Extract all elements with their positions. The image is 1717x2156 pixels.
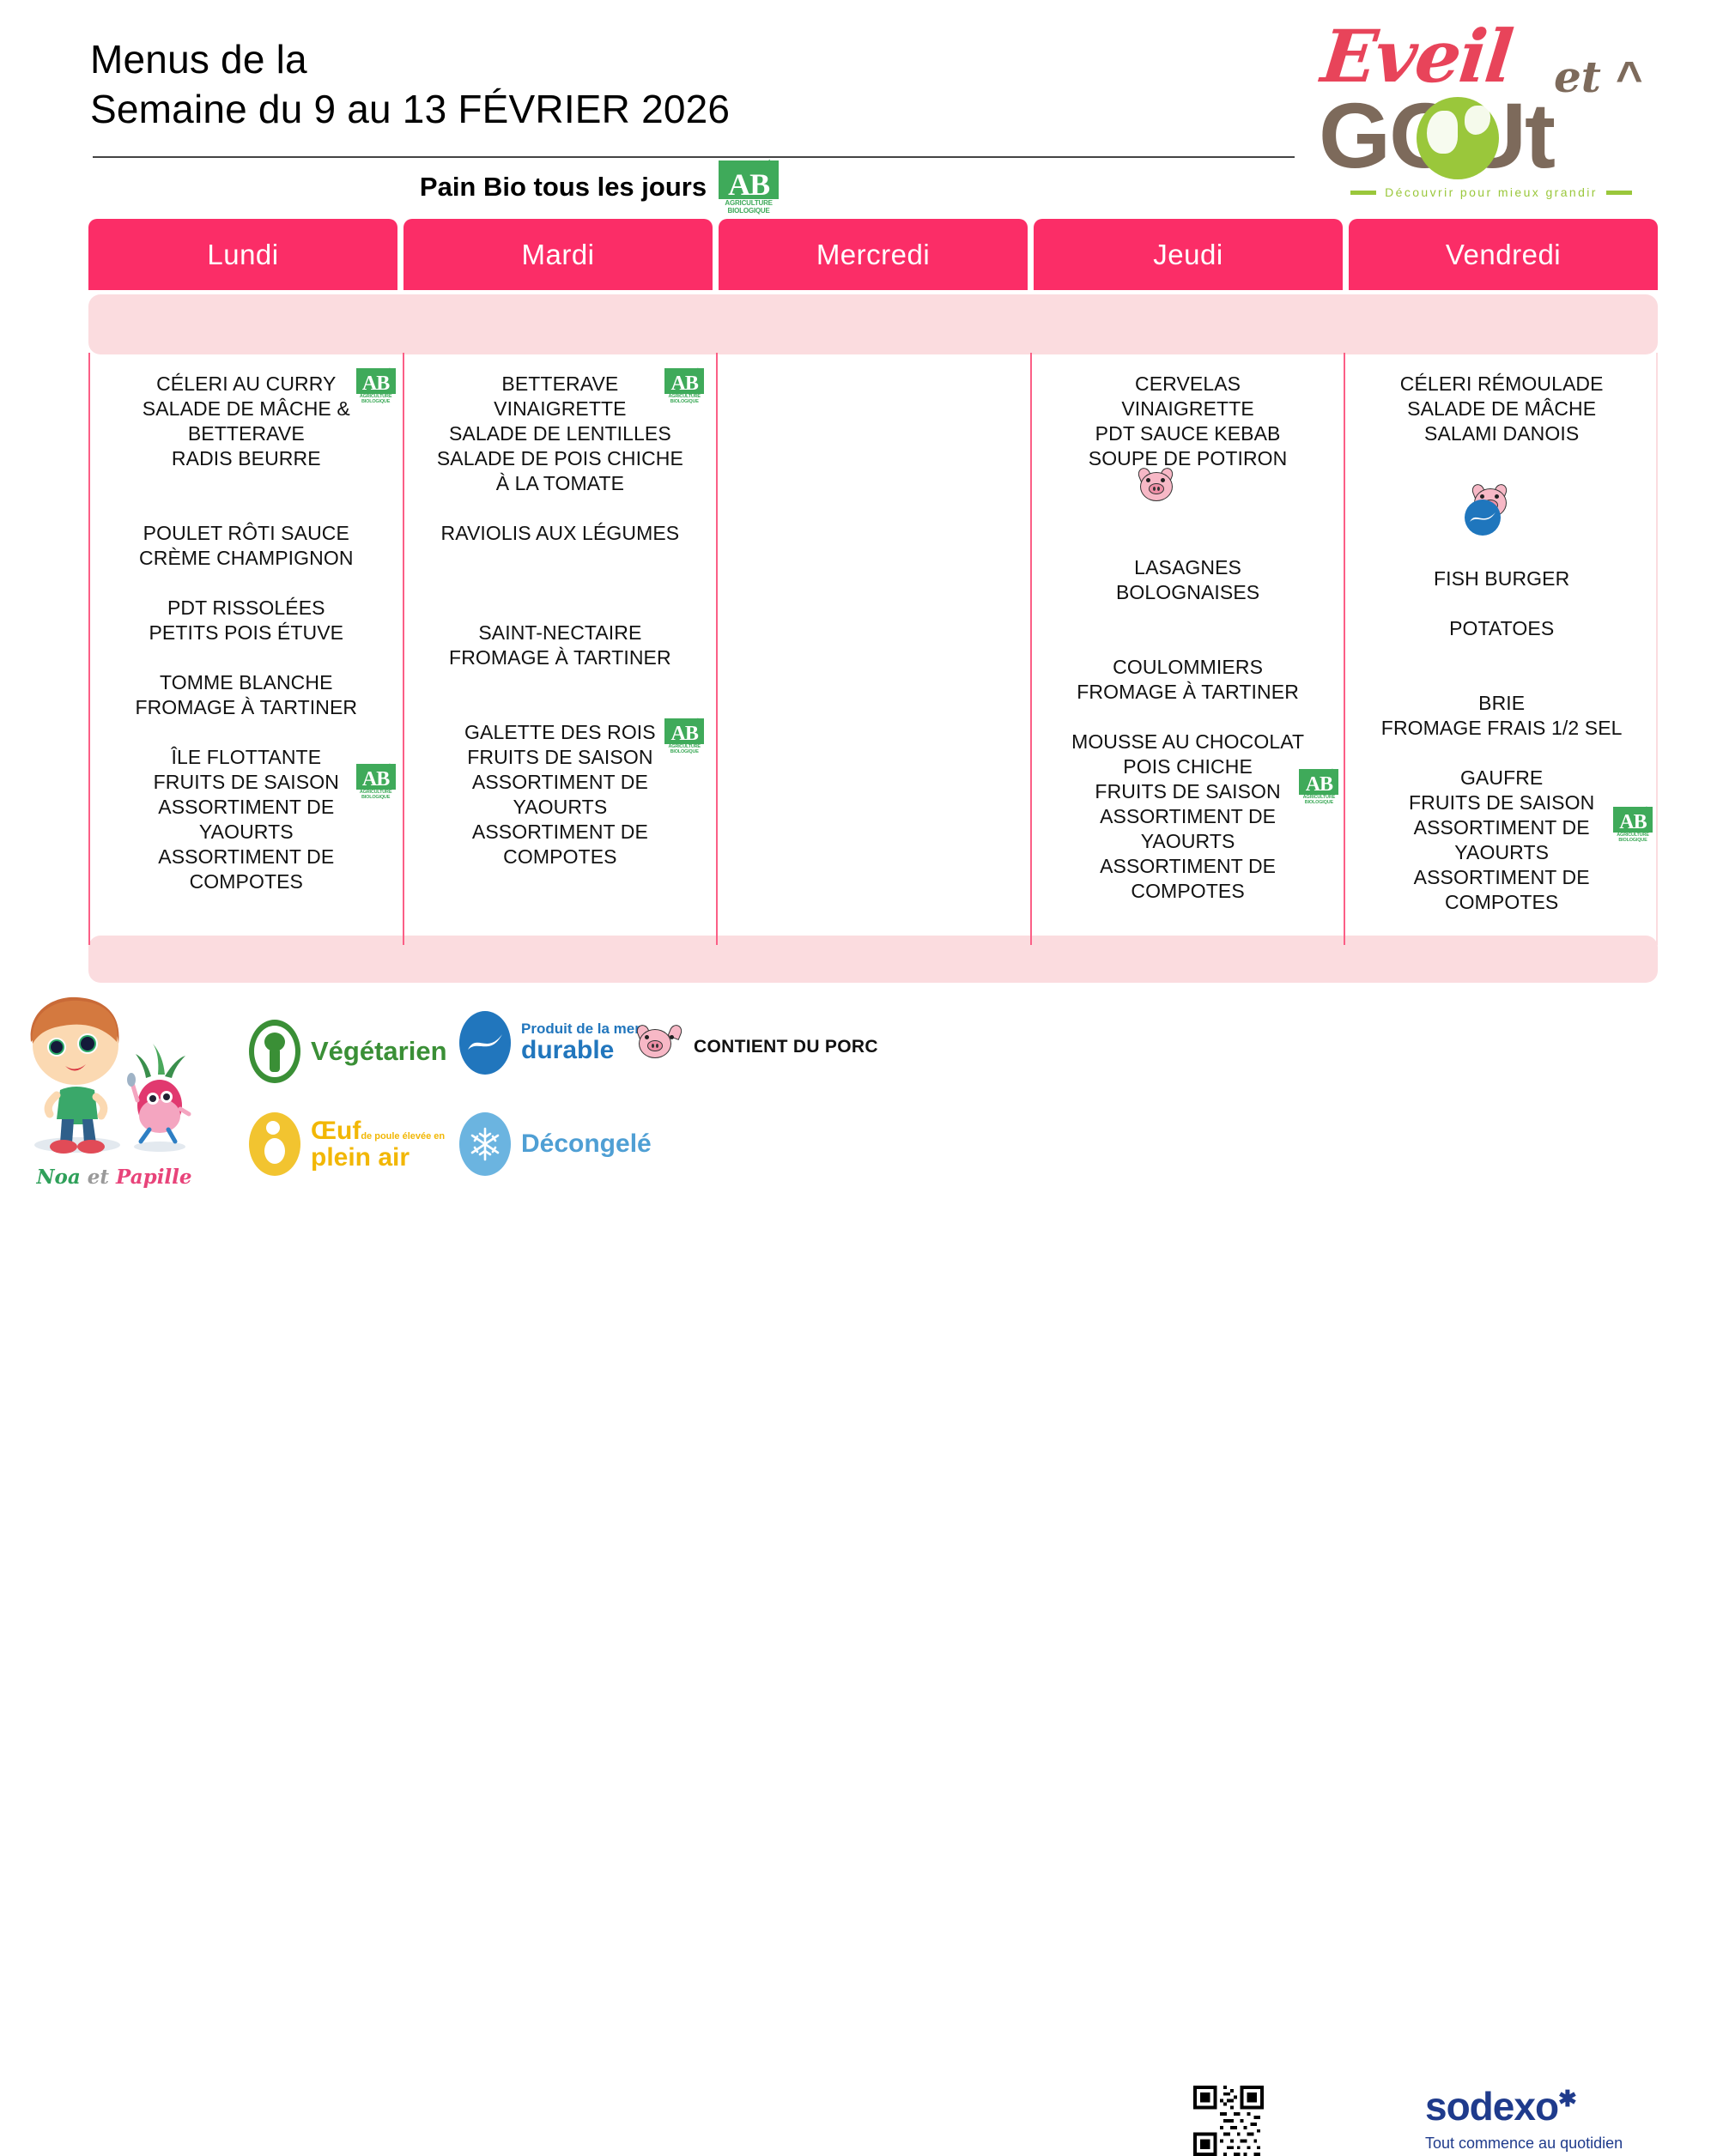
dish: ASSORTIMENT DE	[1032, 804, 1344, 829]
ab-letters: AB	[1619, 813, 1646, 833]
brand-tagline: Découvrir pour mieux grandir	[1289, 185, 1693, 199]
grid-band-top	[88, 294, 1658, 354]
legend-label-mer-2: durable	[521, 1037, 640, 1064]
dish: FRUITS DE SAISON	[1345, 790, 1658, 815]
dish: PETITS POIS ÉTUVE	[90, 621, 403, 645]
page-title: Menus de la Semaine du 9 au 13 FÉVRIER 2…	[90, 34, 1034, 134]
dish: ASSORTIMENT DE	[404, 820, 717, 845]
ab-organic-icon: AB AGRICULTURE BIOLOGIQUE	[664, 368, 704, 404]
ab-letters: AB	[728, 170, 769, 199]
course-plat-mardi: RAVIOLIS AUX LÉGUMES	[404, 521, 717, 546]
dish: FISH BURGER	[1345, 566, 1658, 591]
legend-text: Œufde poule élevée en plein air	[311, 1117, 445, 1172]
dish: CÉLERI RÉMOULADE	[1345, 372, 1658, 397]
dish: YAOURTS	[1345, 840, 1658, 865]
dish: ASSORTIMENT DE	[90, 845, 403, 869]
dish: RADIS BEURRE	[90, 446, 403, 471]
ab-letters: AB	[362, 770, 389, 790]
dish: SALAMI DANOIS	[1345, 421, 1658, 446]
course-dessert-vendredi: GAUFRE FRUITS DE SAISON ASSORTIMENT DE Y…	[1345, 766, 1658, 915]
day-label-mercredi: Mercredi	[816, 239, 930, 271]
dish: FROMAGE À TARTINER	[404, 645, 717, 670]
dish: LASAGNES	[1032, 555, 1344, 580]
leaf-icon	[1638, 805, 1647, 815]
ab-sub-text: AGRICULTURE BIOLOGIQUE	[1299, 795, 1338, 805]
ab-sub-text: AGRICULTURE BIOLOGIQUE	[356, 790, 396, 800]
legend-text: Produit de la mer durable	[521, 1021, 640, 1063]
mascot-noa-et-papille: Noa et Papille	[15, 994, 213, 1208]
mascot-name: Noa et Papille	[15, 1166, 213, 1189]
dish: COMPOTES	[1345, 890, 1658, 915]
dish: POIS CHICHE	[1032, 754, 1344, 779]
course-entree-mardi: BETTERAVE VINAIGRETTE SALADE DE LENTILLE…	[404, 372, 717, 496]
course-entree-lundi: CÉLERI AU CURRY SALADE DE MÂCHE & BETTER…	[90, 372, 403, 471]
ab-sub-line-2: BIOLOGIQUE	[670, 749, 699, 754]
contains-pork-icon	[1137, 468, 1174, 502]
ab-organic-icon: AB AGRICULTURE BIOLOGIQUE	[1613, 807, 1653, 843]
legend-item-produit-mer-durable: Produit de la mer durable	[459, 1011, 640, 1075]
legend-label-oeuf: Œuf	[311, 1117, 361, 1145]
dish: YAOURTS	[1032, 829, 1344, 854]
dish: BETTERAVE	[90, 421, 403, 446]
course-fromage-mardi: SAINT-NECTAIRE FROMAGE À TARTINER	[404, 621, 717, 670]
ab-letters: AB	[1306, 775, 1332, 795]
dish: VINAIGRETTE	[1032, 397, 1344, 421]
legend-label-plein-air: plein air	[311, 1144, 445, 1172]
course-garniture-lundi: PDT RISSOLÉES PETITS POIS ÉTUVE	[90, 596, 403, 645]
dish: POULET RÔTI SAUCE	[90, 521, 403, 546]
leaf-icon	[1324, 767, 1333, 778]
brand-word-et: et	[1554, 51, 1601, 102]
dish: ASSORTIMENT DE	[1345, 865, 1658, 890]
title-line-2: Semaine du 9 au 13 FÉVRIER 2026	[90, 84, 1034, 134]
mascot-name-part-3: Papille	[116, 1166, 192, 1189]
course-entree-jeudi: CERVELAS VINAIGRETTE PDT SAUCE KEBAB SOU…	[1032, 372, 1344, 506]
course-garniture-vendredi: POTATOES	[1345, 616, 1658, 641]
course-fromage-lundi: TOMME BLANCHE FROMAGE À TARTINER	[90, 670, 403, 720]
dish: BRIE	[1345, 691, 1658, 716]
legend-block: Végétarien Œufde poule élevée en plein a…	[249, 994, 1090, 1183]
ab-sub-line-2: BIOLOGIQUE	[670, 399, 699, 404]
dish: RAVIOLIS AUX LÉGUMES	[404, 521, 717, 546]
day-header-lundi[interactable]: Lundi	[88, 219, 397, 290]
legend-label-vegetarien: Végétarien	[311, 1038, 447, 1066]
leaf-icon	[689, 717, 699, 727]
leaf-icon	[381, 366, 391, 377]
ab-organic-icon: AB AGRICULTURE BIOLOGIQUE	[664, 718, 704, 754]
leaf-icon	[689, 366, 699, 377]
ab-sub-line-1: AGRICULTURE	[725, 199, 772, 207]
menu-column-mercredi	[716, 353, 1030, 945]
title-line-1: Menus de la	[90, 34, 1034, 84]
mascot-name-part-2: et	[88, 1166, 109, 1189]
menu-columns: CÉLERI AU CURRY SALADE DE MÂCHE & BETTER…	[88, 353, 1658, 945]
course-entree-vendredi: CÉLERI RÉMOULADE SALADE DE MÂCHE SALAMI …	[1345, 372, 1658, 481]
sodexo-logo: sodexo✱ Tout commence au quotidien	[1425, 2086, 1683, 2153]
frozen-thawed-icon	[459, 1112, 511, 1176]
legend-text: Décongelé	[521, 1130, 652, 1158]
legend-label-mer-1: Produit de la mer	[521, 1021, 640, 1037]
legend-sub-oeuf: de poule élevée en	[361, 1131, 445, 1142]
menu-column-jeudi: CERVELAS VINAIGRETTE PDT SAUCE KEBAB SOU…	[1030, 353, 1344, 945]
ab-organic-icon: AB AGRICULTURE BIOLOGIQUE	[356, 764, 396, 800]
menu-column-mardi: BETTERAVE VINAIGRETTE SALADE DE LENTILLE…	[403, 353, 717, 945]
mascot-illustration	[15, 994, 213, 1166]
ab-letters: AB	[671, 724, 698, 744]
tagline-dash-right	[1606, 191, 1632, 195]
vegetarian-icon	[249, 1020, 300, 1083]
sodexo-tagline: Tout commence au quotidien	[1425, 2135, 1683, 2153]
day-header-mardi[interactable]: Mardi	[403, 219, 713, 290]
dish: TOMME BLANCHE	[90, 670, 403, 695]
dish: ASSORTIMENT DE	[404, 770, 717, 795]
leaf-icon	[381, 762, 391, 772]
ab-sub-line-2: BIOLOGIQUE	[361, 399, 390, 404]
course-fromage-jeudi: COULOMMIERS FROMAGE À TARTINER	[1032, 655, 1344, 705]
contains-pork-icon	[635, 1025, 683, 1069]
legend-item-contient-porc: CONTIENT DU PORC	[635, 1025, 878, 1069]
pain-bio-label: Pain Bio tous les jours	[420, 172, 707, 203]
menu-column-vendredi: CÉLERI RÉMOULADE SALADE DE MÂCHE SALAMI …	[1344, 353, 1658, 945]
ab-sub-text: AGRICULTURE BIOLOGIQUE	[356, 394, 396, 404]
wave-icon	[466, 1027, 504, 1058]
course-dessert-mardi: GALETTE DES ROIS FRUITS DE SAISON ASSORT…	[404, 720, 717, 869]
pain-bio-banner: Pain Bio tous les jours AB AGRICULTURE B…	[93, 163, 1106, 211]
sodexo-wordmark: sodexo✱	[1425, 2086, 1683, 2133]
day-label-mardi: Mardi	[521, 239, 594, 271]
dish: SOUPE DE POTIRON	[1032, 446, 1344, 471]
dish: CRÈME CHAMPIGNON	[90, 546, 403, 571]
tagline-text: Découvrir pour mieux grandir	[1385, 185, 1598, 199]
mascot-name-part-1: Noa	[36, 1166, 80, 1189]
day-label-vendredi: Vendredi	[1446, 239, 1561, 271]
ab-letters: AB	[362, 374, 389, 394]
ab-organic-icon: AB AGRICULTURE BIOLOGIQUE	[1299, 769, 1338, 805]
page-footer: Noa et Papille Végétarien Œufde poule él…	[0, 978, 1717, 1214]
dish: SAINT-NECTAIRE	[404, 621, 717, 645]
course-plat-jeudi: LASAGNES BOLOGNAISES	[1032, 555, 1344, 605]
ab-organic-icon: AB AGRICULTURE BIOLOGIQUE	[719, 160, 779, 214]
course-dessert-lundi: ÎLE FLOTTANTE FRUITS DE SAISON ASSORTIME…	[90, 745, 403, 894]
dish: YAOURTS	[404, 795, 717, 820]
tagline-dash-left	[1350, 191, 1376, 195]
day-header-jeudi[interactable]: Jeudi	[1034, 219, 1343, 290]
course-dessert-jeudi: MOUSSE AU CHOCOLAT POIS CHICHE FRUITS DE…	[1032, 730, 1344, 904]
dish: YAOURTS	[90, 820, 403, 845]
dish: COULOMMIERS	[1032, 655, 1344, 680]
legend-label-decongele: Décongelé	[521, 1130, 652, 1158]
legend-text: Végétarien	[311, 1038, 447, 1066]
ab-letters: AB	[671, 374, 698, 394]
ab-sub-text: AGRICULTURE BIOLOGIQUE	[664, 744, 704, 754]
dish: SALADE DE POIS CHICHE	[404, 446, 717, 471]
page-header: Menus de la Semaine du 9 au 13 FÉVRIER 2…	[0, 0, 1717, 215]
dish: PDT SAUCE KEBAB	[1032, 421, 1344, 446]
ab-sub-text: AGRICULTURE BIOLOGIQUE	[1613, 833, 1653, 843]
ab-sub-line-2: BIOLOGIQUE	[728, 207, 770, 215]
menu-column-lundi: CÉLERI AU CURRY SALADE DE MÂCHE & BETTER…	[88, 353, 403, 945]
day-header-row: Lundi Mardi Mercredi Jeudi Vendredi	[88, 219, 1658, 290]
ab-sub-line-2: BIOLOGIQUE	[1618, 838, 1647, 843]
dish: COMPOTES	[1032, 879, 1344, 904]
course-fromage-vendredi: BRIE FROMAGE FRAIS 1/2 SEL	[1345, 691, 1658, 741]
dish: FROMAGE À TARTINER	[1032, 680, 1344, 705]
wave-icon	[1469, 507, 1496, 528]
dish: COMPOTES	[404, 845, 717, 869]
dish: SALADE DE MÂCHE	[1345, 397, 1658, 421]
dish: ASSORTIMENT DE	[1032, 854, 1344, 879]
dish: POTATOES	[1345, 616, 1658, 641]
day-label-jeudi: Jeudi	[1153, 239, 1223, 271]
leaf-icon	[758, 158, 771, 172]
free-range-egg-icon	[249, 1112, 300, 1176]
legend-label-porc: CONTIENT DU PORC	[694, 1037, 878, 1057]
day-header-vendredi[interactable]: Vendredi	[1349, 219, 1658, 290]
circumflex-icon: ^	[1616, 51, 1643, 105]
dish: ASSORTIMENT DE	[1345, 815, 1658, 840]
legend-item-oeuf-plein-air: Œufde poule élevée en plein air	[249, 1112, 445, 1176]
legend-item-vegetarien: Végétarien	[249, 1020, 447, 1083]
day-header-mercredi[interactable]: Mercredi	[719, 219, 1028, 290]
ab-sub-text: AGRICULTURE BIOLOGIQUE	[664, 394, 704, 404]
star-icon: ✱	[1558, 2086, 1576, 2111]
ab-sub-line-2: BIOLOGIQUE	[1305, 800, 1333, 805]
dish: GAUFRE	[1345, 766, 1658, 790]
dish: PDT RISSOLÉES	[90, 596, 403, 621]
dish: CERVELAS	[1032, 372, 1344, 397]
weekly-menu-grid: Lundi Mardi Mercredi Jeudi Vendredi CÉLE…	[88, 219, 1658, 974]
ab-sub-text: AGRICULTURE BIOLOGIQUE	[719, 199, 779, 215]
sustainable-seafood-icon	[1465, 500, 1501, 536]
dish: À LA TOMATE	[404, 471, 717, 496]
dish: MOUSSE AU CHOCOLAT	[1032, 730, 1344, 754]
dish: FROMAGE FRAIS 1/2 SEL	[1345, 716, 1658, 741]
dish: FROMAGE À TARTINER	[90, 695, 403, 720]
legend-item-decongele: Décongelé	[459, 1112, 652, 1176]
brand-logo-eveil-et-gout: Eveil et ^ GOUt Découvrir pour mieux gra…	[1281, 7, 1693, 204]
sustainable-seafood-icon	[459, 1011, 511, 1075]
snowflake-icon	[468, 1125, 502, 1163]
dish: FRUITS DE SAISON	[1032, 779, 1344, 804]
header-divider	[93, 156, 1295, 158]
day-label-lundi: Lundi	[207, 239, 278, 271]
globe-icon	[1417, 97, 1499, 179]
dish: SALADE DE LENTILLES	[404, 421, 717, 446]
dish: COMPOTES	[90, 869, 403, 894]
course-plat-vendredi: FISH BURGER	[1345, 530, 1658, 591]
qr-code[interactable]	[1193, 2086, 1264, 2156]
dish: BOLOGNAISES	[1032, 580, 1344, 605]
course-plat-lundi: POULET RÔTI SAUCE CRÈME CHAMPIGNON	[90, 521, 403, 571]
ab-sub-line-2: BIOLOGIQUE	[361, 795, 390, 800]
ab-organic-icon: AB AGRICULTURE BIOLOGIQUE	[356, 368, 396, 404]
sodexo-name: sodexo	[1425, 2084, 1558, 2129]
